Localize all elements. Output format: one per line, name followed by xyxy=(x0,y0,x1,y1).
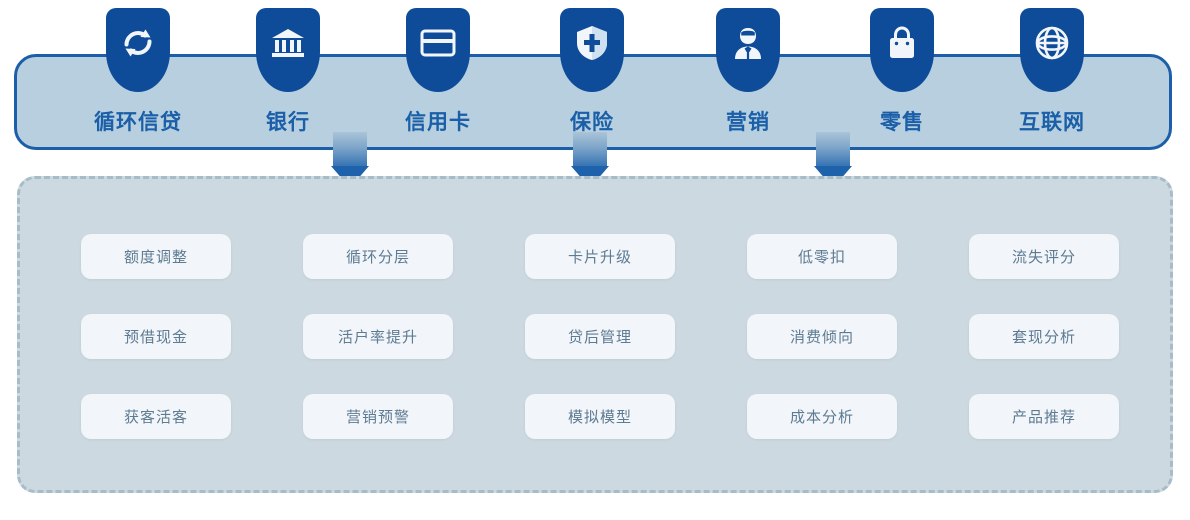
badge-pin xyxy=(1020,8,1084,92)
capability-card[interactable]: 套现分析 xyxy=(969,314,1119,359)
credit-card-icon xyxy=(406,16,470,70)
capability-card[interactable]: 流失评分 xyxy=(969,234,1119,279)
industry-item-insurance[interactable]: 保险 xyxy=(532,8,652,136)
industry-label: 信用卡 xyxy=(405,106,471,136)
industry-item-marketing[interactable]: 营销 xyxy=(688,8,808,136)
capability-card[interactable]: 产品推荐 xyxy=(969,394,1119,439)
salesperson-icon xyxy=(716,16,780,70)
industry-item-revolving-credit[interactable]: 循环信贷 xyxy=(78,8,198,136)
capability-card[interactable]: 活户率提升 xyxy=(303,314,453,359)
capability-card[interactable]: 预借现金 xyxy=(81,314,231,359)
industry-item-credit-card[interactable]: 信用卡 xyxy=(378,8,498,136)
capability-panel: 额度调整 循环分层 卡片升级 低零扣 流失评分 预借现金 活户率提升 贷后管理 … xyxy=(17,176,1173,493)
badge-pin xyxy=(256,8,320,92)
badge-pin xyxy=(716,8,780,92)
badge-pin xyxy=(870,8,934,92)
capability-card[interactable]: 模拟模型 xyxy=(525,394,675,439)
capability-card[interactable]: 消费倾向 xyxy=(747,314,897,359)
industry-label: 银行 xyxy=(266,106,310,136)
badge-pin xyxy=(106,8,170,92)
capability-card-grid: 额度调整 循环分层 卡片升级 低零扣 流失评分 预借现金 活户率提升 贷后管理 … xyxy=(81,234,1121,439)
industry-item-bank[interactable]: 银行 xyxy=(228,8,348,136)
industry-item-internet[interactable]: 互联网 xyxy=(992,8,1112,136)
capability-card[interactable]: 卡片升级 xyxy=(525,234,675,279)
capability-card[interactable]: 贷后管理 xyxy=(525,314,675,359)
industry-label: 互联网 xyxy=(1019,106,1085,136)
capability-card[interactable]: 成本分析 xyxy=(747,394,897,439)
industry-label: 营销 xyxy=(726,106,770,136)
capability-card[interactable]: 获客活客 xyxy=(81,394,231,439)
globe-icon xyxy=(1020,16,1084,70)
capability-card[interactable]: 额度调整 xyxy=(81,234,231,279)
shopping-bag-icon xyxy=(870,16,934,70)
badge-pin xyxy=(560,8,624,92)
badge-pin xyxy=(406,8,470,92)
industry-label: 保险 xyxy=(570,106,614,136)
capability-card[interactable]: 营销预警 xyxy=(303,394,453,439)
capability-card[interactable]: 低零扣 xyxy=(747,234,897,279)
shield-icon xyxy=(560,16,624,70)
refresh-cycle-icon xyxy=(106,16,170,70)
infographic-root: 循环信贷 银行 xyxy=(0,0,1190,520)
industry-label: 循环信贷 xyxy=(94,106,182,136)
bank-icon xyxy=(256,16,320,70)
industry-label: 零售 xyxy=(880,106,924,136)
industry-badge-row: 循环信贷 银行 xyxy=(14,0,1172,150)
capability-card[interactable]: 循环分层 xyxy=(303,234,453,279)
industry-item-retail[interactable]: 零售 xyxy=(842,8,962,136)
